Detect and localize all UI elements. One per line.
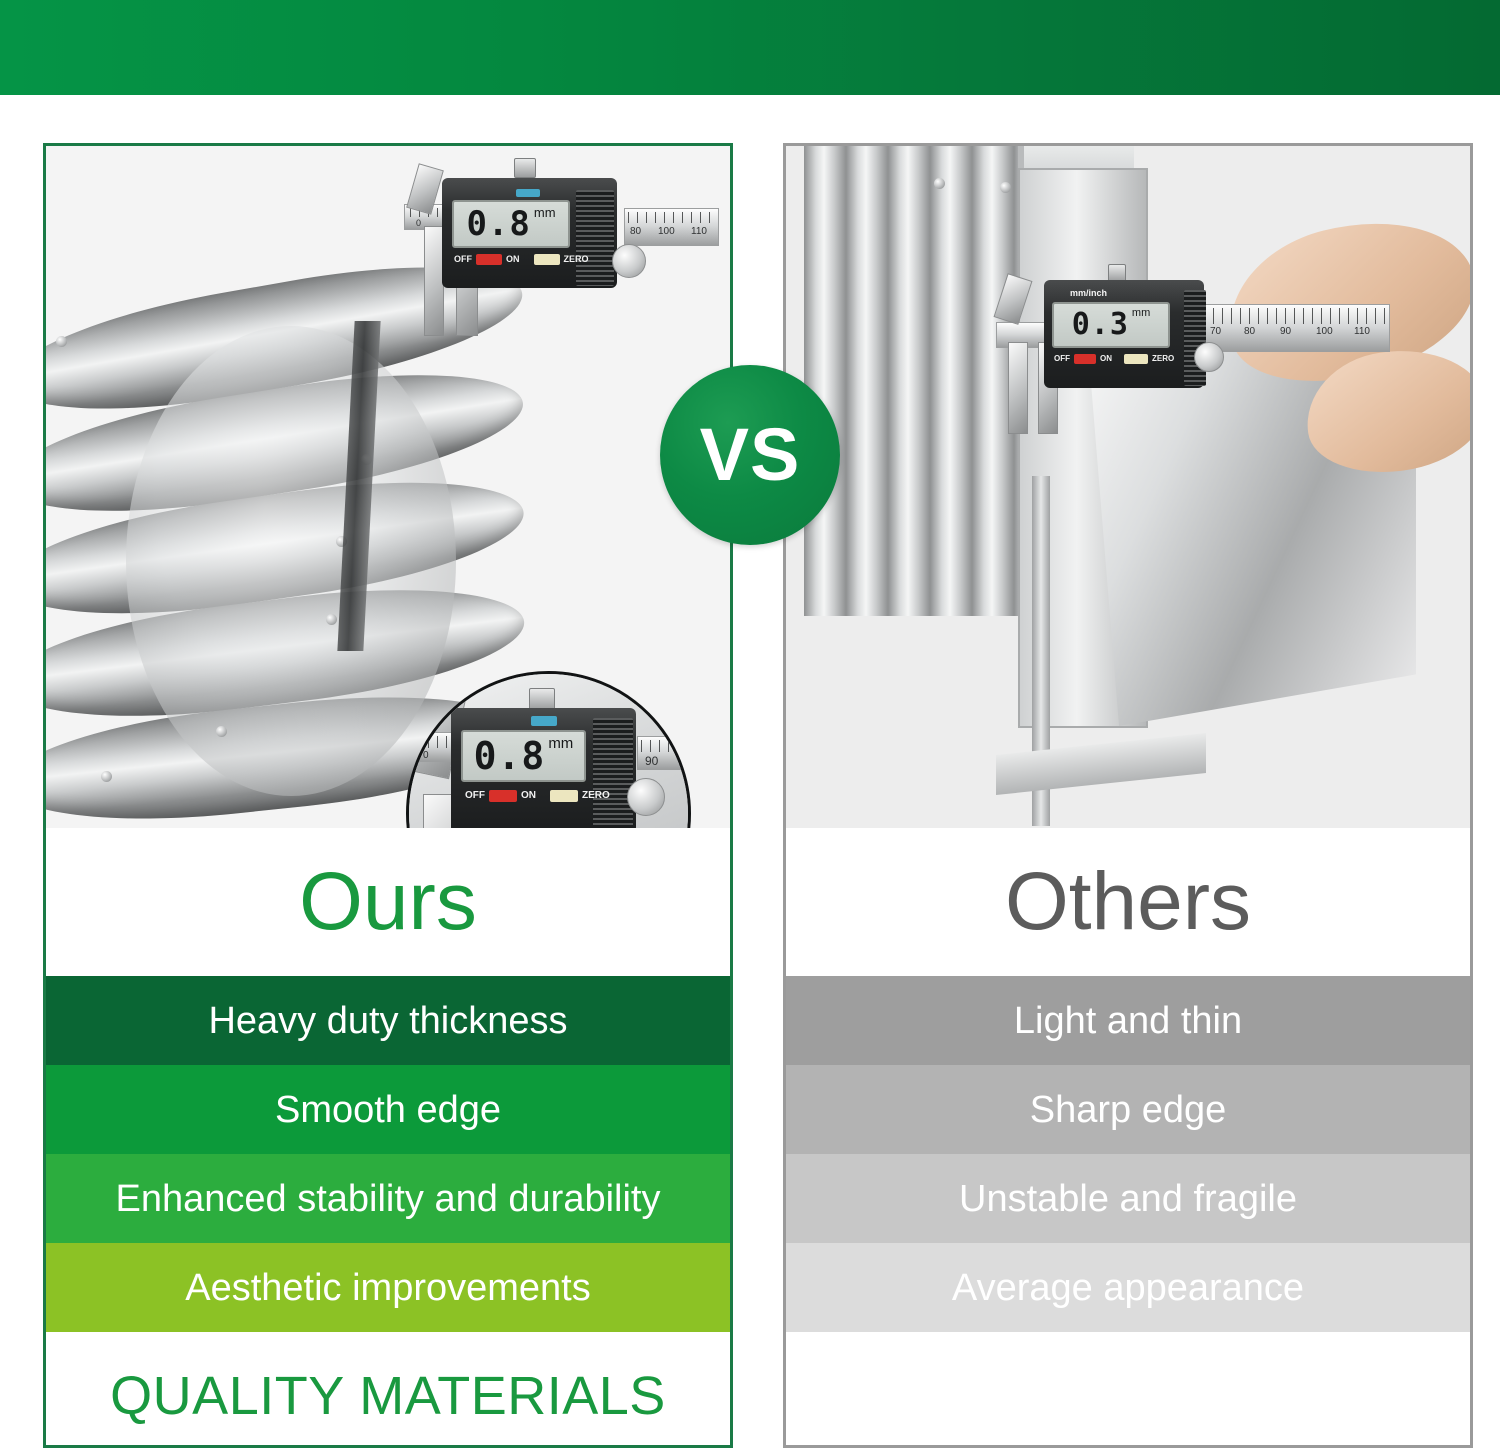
magnifier-zero-label: ZERO (582, 791, 610, 801)
feature-label: Aesthetic improvements (185, 1269, 591, 1307)
ours-panel: 0 80 100 110 0.8 mm OFF (43, 143, 733, 1448)
ours-feature-rows: Heavy duty thickness Smooth edge Enhance… (46, 976, 730, 1332)
top-banner (0, 0, 1500, 95)
comparison-infographic: 0 80 100 110 0.8 mm OFF (0, 0, 1500, 1454)
frame-base-bar (996, 733, 1206, 795)
magnifier-origin-mark: 0 (423, 750, 429, 761)
magnifier-on-label: ON (521, 791, 536, 801)
caliper-zero-label: ZERO (1152, 355, 1174, 363)
feature-row: Smooth edge (46, 1065, 730, 1154)
feature-row: Aesthetic improvements (46, 1243, 730, 1332)
ours-caliper-display: 0.8 mm (452, 200, 570, 248)
feature-label: Average appearance (952, 1269, 1304, 1307)
caliper-scale-mark: 110 (1354, 326, 1370, 337)
others-caliper-display: 0.3 mm (1052, 302, 1170, 348)
others-panel: 70 80 90 100 110 mm/inch 0.3 mm OFF (783, 143, 1473, 1448)
feature-label: Smooth edge (275, 1091, 501, 1129)
feature-row: Enhanced stability and durability (46, 1154, 730, 1243)
vs-badge: VS (660, 365, 840, 545)
others-product-photo: 70 80 90 100 110 mm/inch 0.3 mm OFF (786, 146, 1470, 828)
feature-label: Light and thin (1014, 1002, 1242, 1040)
ours-magnifier-inset: 0 90 0.8 mm OFF ON (406, 671, 691, 828)
others-feature-rows: Light and thin Sharp edge Unstable and f… (786, 976, 1470, 1332)
vs-label: VS (700, 418, 801, 492)
caliper-origin-mark: 0 (416, 218, 421, 228)
caliper-scale-mark: 80 (1244, 326, 1255, 337)
feature-row: Average appearance (786, 1243, 1470, 1332)
caliper-scale-mark: 70 (1210, 326, 1221, 337)
feature-row: Sharp edge (786, 1065, 1470, 1154)
ours-caliper-unit: mm (534, 206, 556, 219)
others-caliper-unit: mm (1132, 308, 1150, 319)
ours-footer: QUALITY MATERIALS (46, 1332, 730, 1448)
others-footer (786, 1332, 1470, 1448)
feature-row: Unstable and fragile (786, 1154, 1470, 1243)
others-caliper-value: 0.3 (1072, 310, 1129, 340)
feature-label: Sharp edge (1030, 1091, 1227, 1129)
ours-magnifier-display: 0.8 mm (461, 730, 586, 782)
magnifier-off-label: OFF (465, 791, 485, 801)
feature-row: Light and thin (786, 976, 1470, 1065)
others-heading: Others (1005, 861, 1251, 943)
comparison-area: 0 80 100 110 0.8 mm OFF (0, 95, 1500, 1454)
quality-materials-text: QUALITY MATERIALS (110, 1369, 666, 1423)
feature-label: Enhanced stability and durability (115, 1180, 660, 1218)
caliper-zero-label: ZERO (564, 255, 589, 264)
magnifier-scale-mark: 90 (645, 754, 658, 768)
others-caliper: 70 80 90 100 110 mm/inch 0.3 mm OFF (1004, 264, 1384, 434)
feature-row: Heavy duty thickness (46, 976, 730, 1065)
others-caliper-mode-label: mm/inch (1070, 288, 1107, 298)
caliper-on-label: ON (1100, 355, 1112, 363)
caliper-scale-mark: 80 (630, 226, 641, 237)
caliper-scale-mark: 110 (691, 226, 707, 237)
caliper-scale-mark: 100 (658, 226, 675, 237)
ours-caliper-value: 0.8 (466, 207, 530, 241)
ours-product-photo: 0 80 100 110 0.8 mm OFF (46, 146, 730, 828)
others-heading-area: Others (786, 828, 1470, 976)
ours-heading-area: Ours (46, 828, 730, 976)
feature-label: Unstable and fragile (959, 1180, 1297, 1218)
caliper-scale-mark: 100 (1316, 326, 1333, 337)
caliper-off-label: OFF (454, 255, 472, 264)
feature-label: Heavy duty thickness (208, 1002, 567, 1040)
caliper-scale-mark: 90 (1280, 326, 1291, 337)
caliper-on-label: ON (506, 255, 520, 264)
ours-magnifier-unit: mm (548, 736, 573, 751)
ours-caliper: 0 80 100 110 0.8 mm OFF (406, 156, 716, 336)
corrugated-sheet-graphic (804, 146, 1024, 616)
ours-magnifier-value: 0.8 (474, 737, 546, 775)
caliper-off-label: OFF (1054, 355, 1070, 363)
ours-heading: Ours (299, 861, 477, 943)
